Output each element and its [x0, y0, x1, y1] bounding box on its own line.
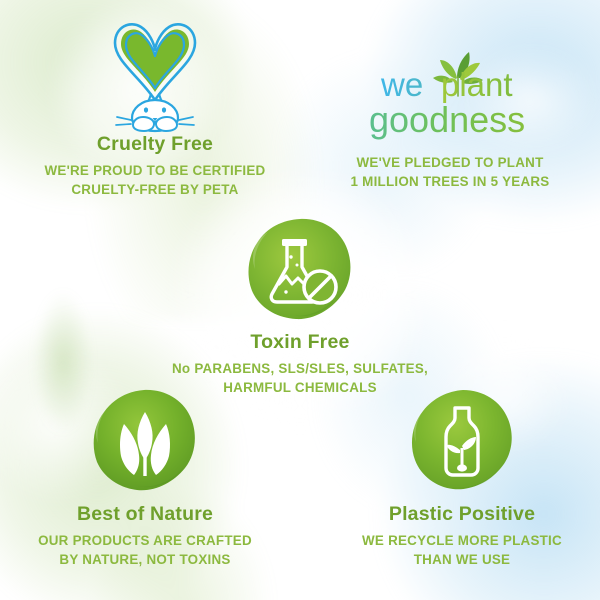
cell-toxin-free: Toxin Free No PARABENS, SLS/SLES, SULFAT…: [165, 216, 435, 397]
plastic-positive-badge: [408, 388, 516, 496]
toxin-free-badge: [246, 216, 354, 324]
svg-text:goodness: goodness: [369, 99, 525, 140]
plastic-positive-title: Plastic Positive: [327, 504, 597, 525]
we-plant-goodness-subtitle: WE'VE PLEDGED TO PLANT 1 MILLION TREES I…: [320, 154, 580, 191]
cell-best-of-nature: Best of Nature OUR PRODUCTS ARE CRAFTED …: [10, 388, 280, 569]
cruelty-free-title: Cruelty Free: [20, 134, 290, 155]
cruelty-free-subtitle: WE'RE PROUD TO BE CERTIFIED CRUELTY-FREE…: [20, 162, 290, 199]
cell-plastic-positive: Plastic Positive WE RECYCLE MORE PLASTIC…: [327, 388, 597, 569]
svg-text:we: we: [380, 66, 423, 103]
cell-cruelty-free: Cruelty Free WE'RE PROUD TO BE CERTIFIED…: [20, 14, 290, 199]
best-of-nature-subtitle: OUR PRODUCTS ARE CRAFTED BY NATURE, NOT …: [10, 532, 280, 569]
cell-we-plant-goodness: we plant goodness WE'VE PLEDGED TO PLANT…: [320, 48, 580, 191]
best-of-nature-title: Best of Nature: [10, 504, 280, 525]
we-plant-goodness-sprout-wordmark-logo: we plant goodness: [363, 48, 538, 140]
best-of-nature-badge: [91, 388, 199, 496]
infographic-canvas: Cruelty Free WE'RE PROUD TO BE CERTIFIED…: [0, 0, 600, 600]
toxin-free-title: Toxin Free: [165, 332, 435, 353]
peta-cruelty-free-bunny-heart-logo: [101, 14, 209, 134]
svg-text:plant: plant: [441, 66, 513, 103]
plastic-positive-subtitle: WE RECYCLE MORE PLASTIC THAN WE USE: [327, 532, 597, 569]
